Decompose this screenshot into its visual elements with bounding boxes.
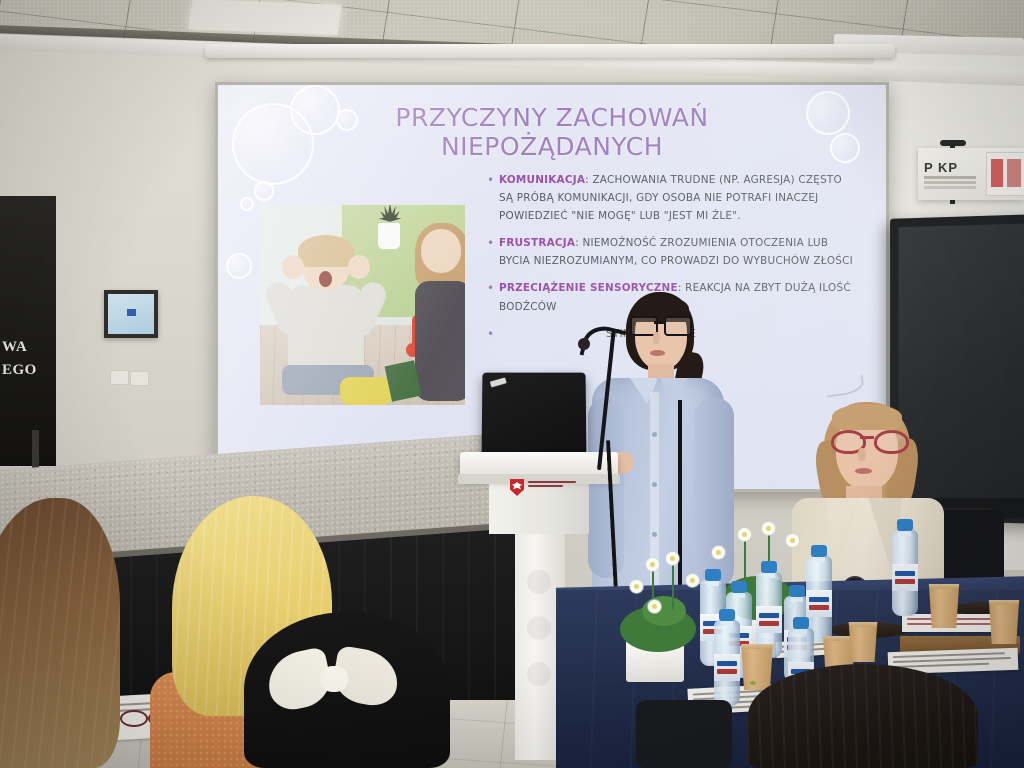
bubble-decoration	[240, 197, 254, 211]
flower-stem	[672, 560, 674, 610]
bottle-label	[806, 590, 832, 617]
paper-cup[interactable]	[986, 600, 1022, 644]
photo-toy-yellow	[340, 377, 392, 405]
sign-graphic-right	[1007, 159, 1021, 187]
lectern-body	[489, 484, 589, 534]
microphone-head	[578, 338, 590, 350]
banner-line-2: EGO	[2, 359, 54, 382]
water-bottle[interactable]	[714, 620, 740, 706]
presenter-nose	[653, 332, 660, 344]
attendee-head-foreground	[748, 664, 978, 768]
lectern-detail	[527, 662, 551, 686]
slide-flourish	[825, 374, 865, 397]
daisy-flower	[630, 580, 643, 593]
presenter-arm-right	[694, 398, 734, 588]
daisy-flower	[686, 574, 699, 587]
presenter-mouth	[650, 350, 665, 356]
glasses-lens-right	[664, 316, 692, 336]
foliage	[642, 596, 686, 626]
glasses-bridge	[654, 321, 664, 324]
panelist-nose	[858, 448, 866, 461]
daisy-flower	[666, 552, 679, 565]
laptop-sticker	[490, 377, 507, 387]
slide-bullet: KOMUNIKACJA: ZACHOWANIA TRUDNE (NP. AGRE…	[486, 171, 856, 225]
wall-sign-subtext	[924, 176, 976, 179]
panelist-fringe	[832, 404, 902, 430]
bottle-cap	[705, 569, 721, 581]
daisy-flower	[738, 528, 751, 541]
slide-bullet: FRUSTRACJA: NIEMOŻNOŚĆ ZROZUMIENIA OTOCZ…	[486, 234, 856, 270]
lectern-detail	[527, 570, 551, 594]
laptop[interactable]	[482, 373, 587, 459]
photo-adult-head	[421, 229, 461, 273]
banner-line-1: WA	[2, 336, 54, 359]
daisy-flower	[646, 558, 659, 571]
bubble-decoration	[254, 181, 274, 201]
wall-sign-text: P KP	[924, 160, 958, 175]
wall-socket	[130, 371, 149, 386]
paper-cup[interactable]	[738, 644, 776, 690]
daisy-flower	[648, 600, 661, 613]
hair-bow	[268, 648, 400, 710]
picture-frame-image	[108, 294, 154, 334]
paper-cup[interactable]	[846, 622, 880, 662]
bottle-cap	[811, 545, 827, 557]
bottle-cap	[897, 519, 913, 531]
photo-child-mouth	[319, 271, 332, 287]
photo-adult-body	[415, 281, 465, 401]
lectern-org-text	[528, 481, 576, 489]
slide-title-line-2: NIEPOŻĄDANYCH	[218, 132, 886, 161]
sign-graphic-left	[991, 159, 1003, 187]
attendee-head-brown-hair	[0, 498, 120, 768]
glasses-lens-left	[120, 710, 148, 727]
bottle-cap	[789, 585, 805, 597]
bubble-decoration	[226, 253, 252, 279]
bottle-cap	[719, 609, 735, 621]
wall-socket	[110, 370, 129, 385]
glasses-bridge	[860, 436, 874, 439]
hair-strands	[0, 498, 120, 768]
daisy-flower	[712, 546, 725, 559]
presenter-glasses	[630, 316, 690, 332]
cup-logo	[750, 681, 756, 685]
photo-child-hand	[348, 255, 370, 279]
bullet-keyword: FRUSTRACJA	[499, 237, 575, 249]
slide-photo	[260, 205, 465, 405]
roll-up-banner: WA EGO	[0, 196, 56, 466]
conference-room-photo: WA EGO PRZYCZYNY ZACHOWAŃ NIEPOŻĄDANYCH	[0, 0, 1024, 768]
display-screen	[898, 223, 1024, 514]
bottle-cap	[731, 581, 747, 593]
slide-title-line-1: PRZYCZYNY ZACHOWAŃ	[218, 103, 886, 132]
photo-plant-pot	[378, 223, 400, 249]
photo-child	[278, 241, 374, 391]
photo-child-hand	[282, 255, 304, 279]
hair-strands	[748, 664, 978, 768]
panelist-mouth	[855, 468, 872, 474]
bullet-keyword: KOMUNIKACJA	[499, 174, 585, 186]
bottle-label	[714, 654, 740, 681]
bottle-label	[756, 606, 782, 633]
ceiling-light-panel	[188, 0, 342, 35]
photo-adult	[415, 223, 465, 403]
glasses-lens-right	[874, 430, 909, 454]
picture-frame-accent	[127, 309, 136, 316]
water-bottle[interactable]	[892, 530, 918, 616]
projection-screen-roller	[205, 44, 895, 58]
slide-title: PRZYCZYNY ZACHOWAŃ NIEPOŻĄDANYCH	[218, 103, 886, 161]
secondary-wall-sign	[986, 152, 1024, 196]
daisy-flower	[786, 534, 799, 547]
wall-picture-frame	[104, 290, 158, 338]
paper-cup[interactable]	[926, 584, 962, 628]
bottle-cap	[793, 617, 809, 629]
photo-child-hair	[298, 235, 354, 267]
banner-text: WA EGO	[2, 336, 54, 381]
lectern-detail	[527, 616, 551, 640]
flower-stem	[744, 536, 746, 582]
panelist-glasses	[831, 430, 903, 448]
daisy-flower	[762, 522, 775, 535]
bow-knot	[320, 666, 348, 692]
bottle-label	[892, 564, 918, 591]
chair-back	[636, 700, 732, 768]
bottle-cap	[761, 561, 777, 573]
